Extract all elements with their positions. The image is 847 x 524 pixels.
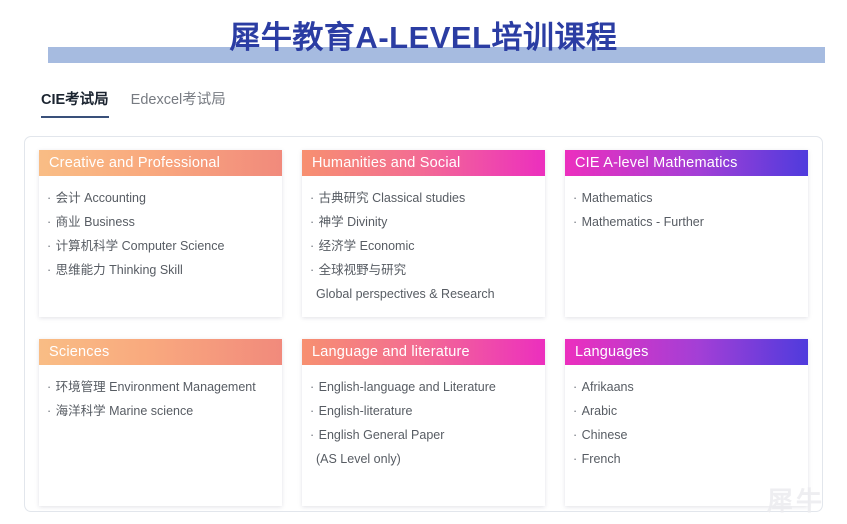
course-list-item-continuation: Global perspectives & Research <box>310 282 537 306</box>
course-list-item[interactable]: · English-literature <box>310 399 537 423</box>
courses-panel: Creative and Professional· 会计 Accounting… <box>24 136 823 512</box>
bullet-icon: · <box>47 404 55 418</box>
course-card[interactable]: Creative and Professional· 会计 Accounting… <box>39 150 282 317</box>
course-list-item-label: 神学 Divinity <box>319 215 388 229</box>
course-list-item-label: 古典研究 Classical studies <box>319 191 466 205</box>
course-list-item-label: Mathematics - Further <box>582 215 704 229</box>
course-list-item[interactable]: · English General Paper <box>310 423 537 447</box>
course-card-title: Sciences <box>39 339 282 365</box>
course-card-title: Language and literature <box>302 339 545 365</box>
bullet-icon: · <box>47 191 55 205</box>
course-list-item[interactable]: · 全球视野与研究 <box>310 258 537 282</box>
course-card[interactable]: Humanities and Social· 古典研究 Classical st… <box>302 150 545 317</box>
bullet-icon: · <box>310 215 318 229</box>
course-list-item[interactable]: · 经济学 Economic <box>310 234 537 258</box>
course-list-item-continuation: (AS Level only) <box>310 447 537 471</box>
tab-cie[interactable]: CIE考试局 <box>41 88 109 118</box>
course-list-item-label: 计算机科学 Computer Science <box>56 239 225 253</box>
tab-edexcel-label: Edexcel考试局 <box>131 92 226 108</box>
bullet-icon: · <box>573 452 581 466</box>
course-card-body: · Afrikaans· Arabic· Chinese· French <box>565 365 808 506</box>
course-card-title: Humanities and Social <box>302 150 545 176</box>
page-title: 犀牛教育A-LEVEL培训课程 <box>0 12 847 57</box>
bullet-icon: · <box>310 428 318 442</box>
course-card[interactable]: Languages· Afrikaans· Arabic· Chinese· F… <box>565 339 808 506</box>
course-list-item[interactable]: · French <box>573 447 800 471</box>
course-card[interactable]: CIE A-level Mathematics· Mathematics· Ma… <box>565 150 808 317</box>
course-list-item-label: English-literature <box>319 404 413 418</box>
course-list-item-label: Afrikaans <box>582 380 634 394</box>
course-list-item-label: Chinese <box>582 428 628 442</box>
course-list-item[interactable]: · Mathematics - Further <box>573 210 800 234</box>
bullet-icon: · <box>47 239 55 253</box>
course-list-item-label: 环境管理 Environment Management <box>56 380 256 394</box>
bullet-icon: · <box>573 215 581 229</box>
course-list-item-label: 商业 Business <box>56 215 135 229</box>
course-list-item-label: 思维能力 Thinking Skill <box>56 263 183 277</box>
course-list-item[interactable]: · Arabic <box>573 399 800 423</box>
exam-board-tabs: CIE考试局 Edexcel考试局 <box>41 88 226 118</box>
course-list-item-label: English-language and Literature <box>319 380 496 394</box>
bullet-icon: · <box>573 428 581 442</box>
bullet-icon: · <box>310 404 318 418</box>
course-card-body: · 古典研究 Classical studies· 神学 Divinity· 经… <box>302 176 545 317</box>
course-card-grid: Creative and Professional· 会计 Accounting… <box>39 150 809 506</box>
course-list-item[interactable]: · 会计 Accounting <box>47 186 274 210</box>
course-list-item-label: 全球视野与研究 <box>319 263 407 277</box>
bullet-icon: · <box>573 191 581 205</box>
course-list-item-label: French <box>582 452 621 466</box>
bullet-icon: · <box>573 404 581 418</box>
course-card[interactable]: Language and literature· English-languag… <box>302 339 545 506</box>
bullet-icon: · <box>310 380 318 394</box>
bullet-icon: · <box>47 380 55 394</box>
tab-edexcel[interactable]: Edexcel考试局 <box>131 88 226 118</box>
course-list-item[interactable]: · Chinese <box>573 423 800 447</box>
course-list-item-label: 会计 Accounting <box>56 191 146 205</box>
bullet-icon: · <box>47 215 55 229</box>
course-card-body: · Mathematics· Mathematics - Further <box>565 176 808 317</box>
course-list-item-label: Arabic <box>582 404 617 418</box>
course-list-item-label: 经济学 Economic <box>319 239 415 253</box>
course-list-item[interactable]: · 思维能力 Thinking Skill <box>47 258 274 282</box>
bullet-icon: · <box>47 263 55 277</box>
bullet-icon: · <box>573 380 581 394</box>
course-card-body: · English-language and Literature· Engli… <box>302 365 545 506</box>
course-list-item[interactable]: · 古典研究 Classical studies <box>310 186 537 210</box>
bullet-icon: · <box>310 239 318 253</box>
course-list-item[interactable]: · English-language and Literature <box>310 375 537 399</box>
course-card-title: Creative and Professional <box>39 150 282 176</box>
course-list-item[interactable]: · Afrikaans <box>573 375 800 399</box>
course-list-item-label: English General Paper <box>319 428 445 442</box>
tab-cie-label: CIE考试局 <box>41 92 109 108</box>
course-list-item[interactable]: · 计算机科学 Computer Science <box>47 234 274 258</box>
course-list-item[interactable]: · 海洋科学 Marine science <box>47 399 274 423</box>
bullet-icon: · <box>310 263 318 277</box>
course-list-item[interactable]: · 神学 Divinity <box>310 210 537 234</box>
course-card-body: · 环境管理 Environment Management· 海洋科学 Mari… <box>39 365 282 506</box>
course-list-item[interactable]: · 环境管理 Environment Management <box>47 375 274 399</box>
course-card-body: · 会计 Accounting· 商业 Business· 计算机科学 Comp… <box>39 176 282 317</box>
course-card-title: Languages <box>565 339 808 365</box>
course-list-item-label: Mathematics <box>582 191 653 205</box>
page-header: 犀牛教育A-LEVEL培训课程 <box>0 0 847 78</box>
course-card-title: CIE A-level Mathematics <box>565 150 808 176</box>
course-card[interactable]: Sciences· 环境管理 Environment Management· 海… <box>39 339 282 506</box>
course-list-item[interactable]: · 商业 Business <box>47 210 274 234</box>
course-list-item-label: 海洋科学 Marine science <box>56 404 194 418</box>
bullet-icon: · <box>310 191 318 205</box>
course-list-item[interactable]: · Mathematics <box>573 186 800 210</box>
